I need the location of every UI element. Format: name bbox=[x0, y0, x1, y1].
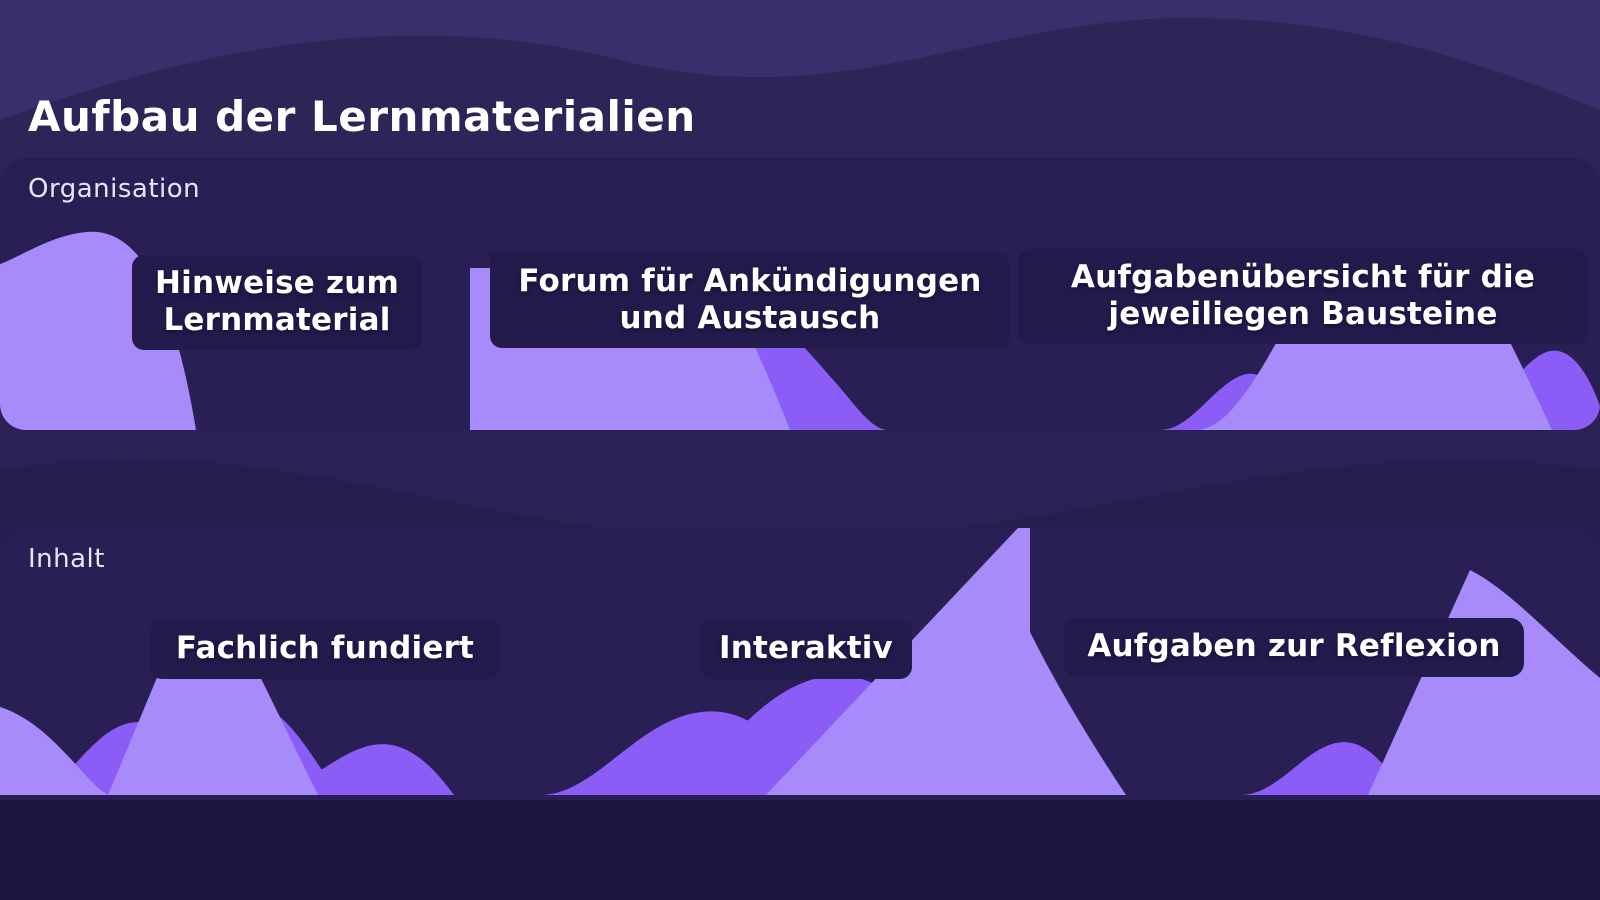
slide-canvas: Aufbau der Lernmaterialien Organisation … bbox=[0, 0, 1600, 900]
card-label-aufgabenuebersicht[interactable]: Aufgabenübersicht für die jeweiliegen Ba… bbox=[1018, 249, 1588, 344]
section-label-organisation: Organisation bbox=[28, 174, 200, 204]
bottom-strip bbox=[0, 795, 1600, 900]
card-label-fachlich-fundiert[interactable]: Fachlich fundiert bbox=[150, 620, 500, 679]
section-label-inhalt: Inhalt bbox=[28, 544, 105, 574]
card-label-hinweise-zum-lernmaterial[interactable]: Hinweise zum Lernmaterial bbox=[132, 255, 422, 350]
card-label-forum-fuer-ankuendigungen[interactable]: Forum für Ankündigungen und Austausch bbox=[490, 253, 1010, 348]
card-label-interaktiv[interactable]: Interaktiv bbox=[700, 620, 912, 679]
page-title: Aufbau der Lernmaterialien bbox=[28, 92, 696, 141]
card-label-aufgaben-zur-reflexion[interactable]: Aufgaben zur Reflexion bbox=[1064, 618, 1524, 677]
